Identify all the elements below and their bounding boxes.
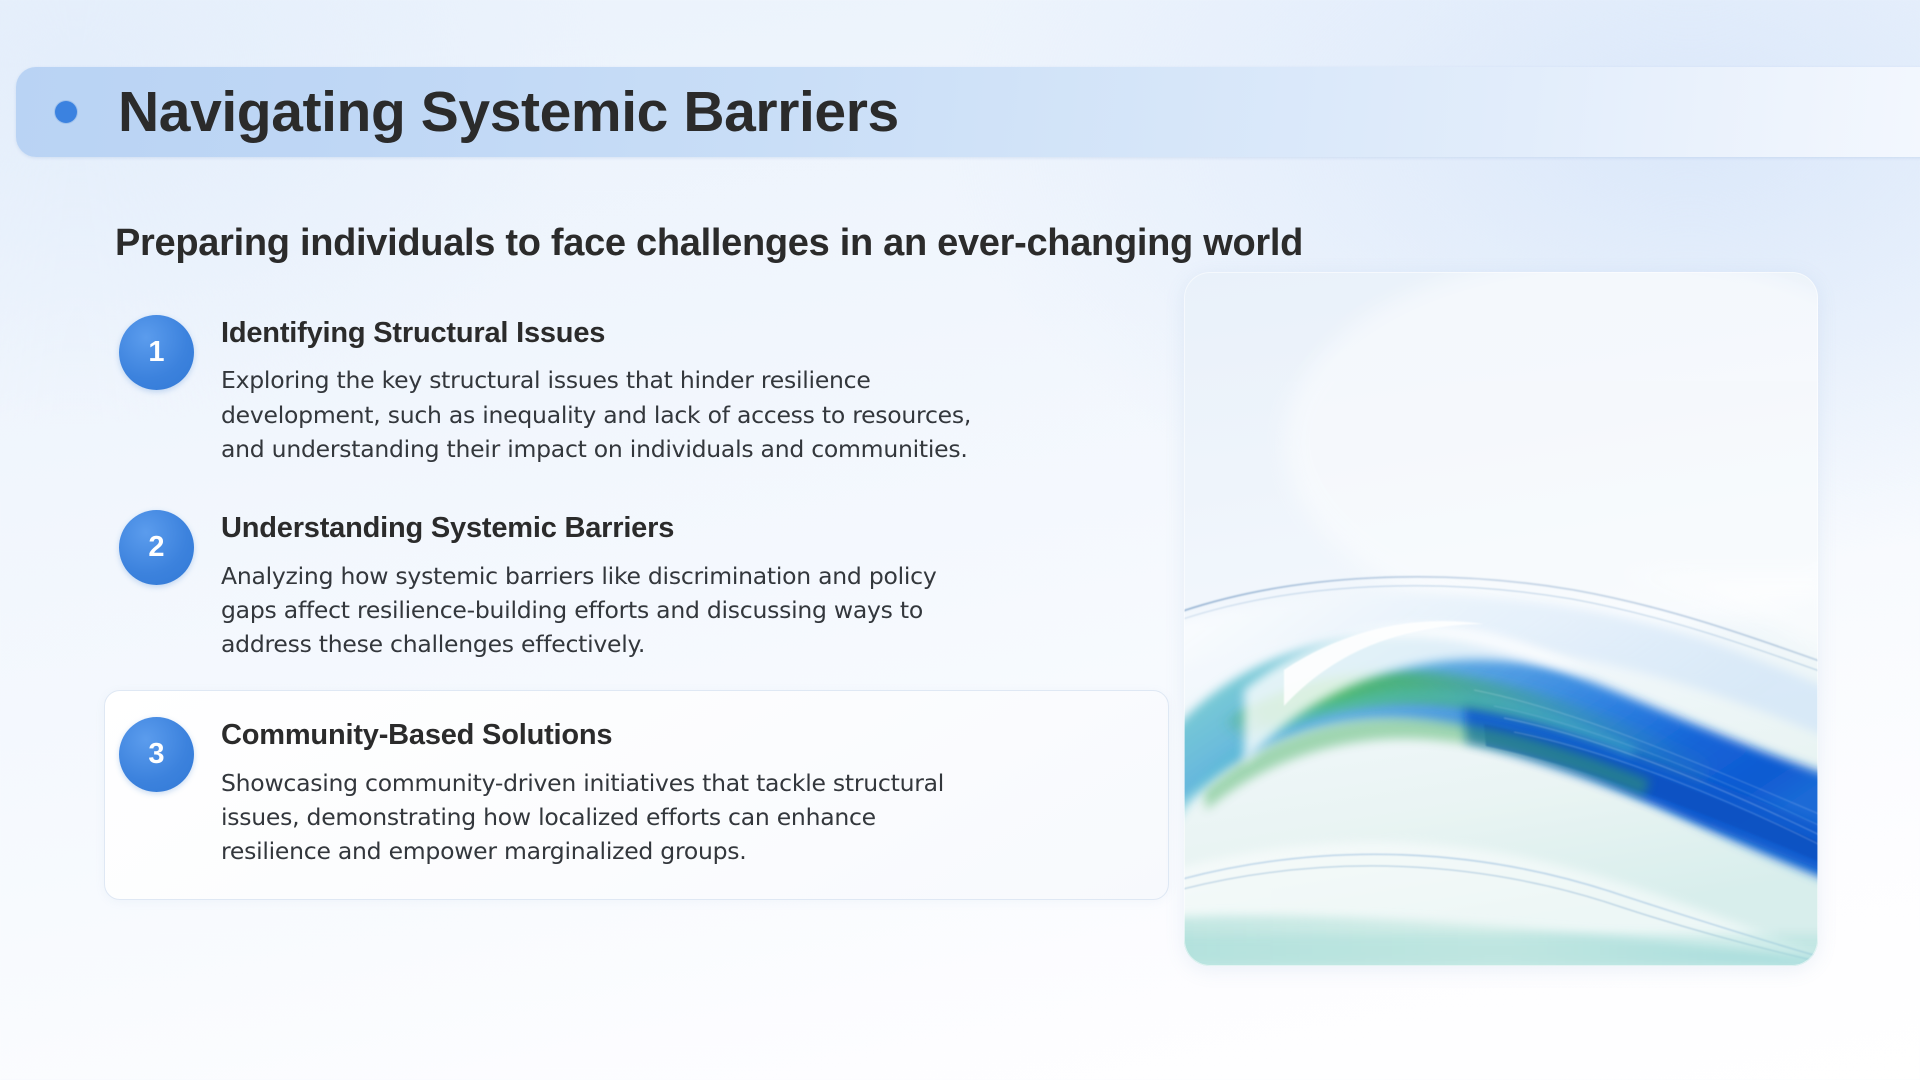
step-title: Understanding Systemic Barriers [221, 512, 1150, 545]
steps-list: 1 Identifying Structural Issues Explorin… [104, 300, 1169, 900]
page-title: Navigating Systemic Barriers [118, 84, 899, 141]
step-number-badge: 2 [119, 510, 194, 585]
step-item-3[interactable]: 3 Community-Based Solutions Showcasing c… [104, 690, 1169, 899]
slide-root: Navigating Systemic Barriers Preparing i… [0, 0, 1920, 1080]
slide-title-band: Navigating Systemic Barriers [16, 67, 1920, 157]
step-item-1[interactable]: 1 Identifying Structural Issues Explorin… [104, 300, 1169, 481]
step-content: Understanding Systemic Barriers Analyzin… [221, 508, 1150, 661]
step-content: Identifying Structural Issues Exploring … [221, 313, 1150, 466]
step-description: Exploring the key structural issues that… [221, 363, 976, 466]
step-content: Community-Based Solutions Showcasing com… [221, 715, 1150, 868]
step-title: Community-Based Solutions [221, 719, 1150, 752]
step-description: Showcasing community-driven initiatives … [221, 766, 976, 869]
bullet-dot-icon [55, 101, 77, 123]
page-subtitle: Preparing individuals to face challenges… [115, 222, 1303, 265]
step-number-badge: 1 [119, 315, 194, 390]
abstract-blue-green-wave-image [1184, 272, 1818, 966]
step-title: Identifying Structural Issues [221, 317, 1150, 350]
step-description: Analyzing how systemic barriers like dis… [221, 559, 976, 662]
step-number-badge: 3 [119, 717, 194, 792]
wave-illustration-svg [1184, 272, 1818, 966]
step-item-2[interactable]: 2 Understanding Systemic Barriers Analyz… [104, 495, 1169, 676]
